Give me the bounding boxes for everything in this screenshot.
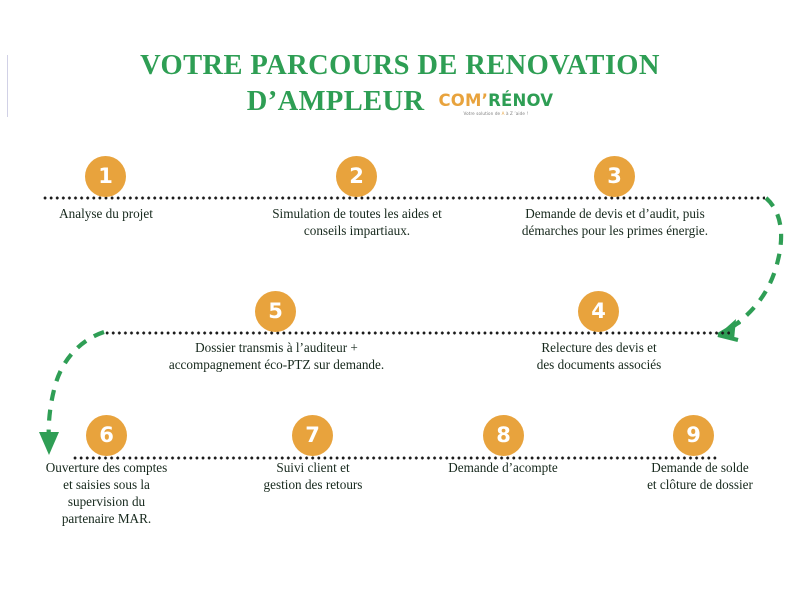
step-3-line-2: démarches pour les primes énergie.: [487, 222, 743, 239]
step-text-8: Demande d’acompte: [418, 459, 588, 476]
step-4-line-1: Relecture des devis et: [490, 339, 708, 356]
step-number-2: 2: [349, 166, 364, 187]
step-1-line-1: Analyse du projet: [16, 205, 196, 222]
step-circle-9[interactable]: 9: [673, 415, 714, 456]
step-number-1: 1: [98, 166, 113, 187]
step-6-line-4: partenaire MAR.: [13, 510, 200, 527]
step-3-line-1: Demande de devis et d’audit, puis: [487, 205, 743, 222]
step-number-7: 7: [305, 425, 320, 446]
step-5-line-1: Dossier transmis à l’auditeur +: [110, 339, 443, 356]
title-line-1: VOTRE PARCOURS DE RENOVATION: [60, 48, 740, 84]
page-title: VOTRE PARCOURS DE RENOVATION D’AMPLEUR C…: [60, 48, 740, 121]
step-circle-7[interactable]: 7: [292, 415, 333, 456]
comrenov-logo: COM’RÉNOV Votre solution de A à Z ’aide …: [438, 93, 553, 119]
title-line-2: D’AMPLEUR: [247, 84, 425, 120]
step-circle-4[interactable]: 4: [578, 291, 619, 332]
step-text-3: Demande de devis et d’audit, puis démarc…: [487, 205, 743, 239]
step-6-line-2: et saisies sous la: [13, 476, 200, 493]
step-text-4: Relecture des devis et des documents ass…: [490, 339, 708, 373]
step-number-5: 5: [268, 301, 283, 322]
decorative-edge-line: [7, 55, 8, 117]
step-circle-1[interactable]: 1: [85, 156, 126, 197]
step-text-5: Dossier transmis à l’auditeur + accompag…: [110, 339, 443, 373]
step-8-line-1: Demande d’acompte: [418, 459, 588, 476]
step-text-9: Demande de solde et clôture de dossier: [613, 459, 787, 493]
step-circle-3[interactable]: 3: [594, 156, 635, 197]
step-2-line-2: conseils impartiaux.: [231, 222, 483, 239]
step-4-line-2: des documents associés: [490, 356, 708, 373]
tagline-before: Votre solution de: [464, 111, 502, 116]
tagline-after: ’aide !: [514, 111, 528, 116]
step-number-4: 4: [591, 301, 606, 322]
step-text-7: Suivi client et gestion des retours: [228, 459, 398, 493]
step-5-line-2: accompagnement éco-PTZ sur demande.: [110, 356, 443, 373]
step-9-line-2: et clôture de dossier: [613, 476, 787, 493]
step-6-line-3: supervision du: [13, 493, 200, 510]
step-number-3: 3: [607, 166, 622, 187]
step-circle-2[interactable]: 2: [336, 156, 377, 197]
row-1-dotted-line: [42, 196, 765, 200]
step-6-line-1: Ouverture des comptes: [13, 459, 200, 476]
logo-renov-text: RÉNOV: [488, 91, 553, 110]
step-7-line-1: Suivi client et: [228, 459, 398, 476]
step-2-line-1: Simulation de toutes les aides et: [231, 205, 483, 222]
step-number-6: 6: [99, 425, 114, 446]
step-9-line-1: Demande de solde: [613, 459, 787, 476]
step-7-line-2: gestion des retours: [228, 476, 398, 493]
row-2-dotted-line: [98, 331, 730, 335]
infographic-canvas: VOTRE PARCOURS DE RENOVATION D’AMPLEUR C…: [0, 0, 800, 610]
step-text-2: Simulation de toutes les aides et consei…: [231, 205, 483, 239]
step-circle-6[interactable]: 6: [86, 415, 127, 456]
step-number-9: 9: [686, 425, 701, 446]
step-text-6: Ouverture des comptes et saisies sous la…: [13, 459, 200, 528]
logo-wordmark: COM’RÉNOV: [438, 93, 553, 110]
step-circle-5[interactable]: 5: [255, 291, 296, 332]
tagline-mid: à Z: [505, 111, 515, 116]
logo-tagline: Votre solution de A à Z ’aide !: [438, 112, 553, 116]
step-text-1: Analyse du projet: [16, 205, 196, 222]
step-number-8: 8: [496, 425, 511, 446]
logo-com-text: COM: [438, 91, 481, 110]
step-circle-8[interactable]: 8: [483, 415, 524, 456]
